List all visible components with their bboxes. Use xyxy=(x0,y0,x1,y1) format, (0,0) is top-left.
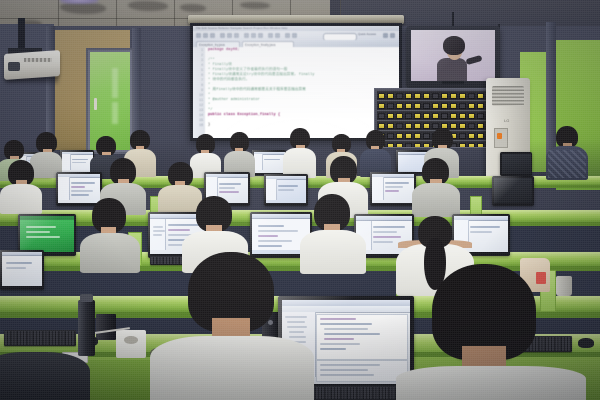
toolbar-icon-run[interactable] xyxy=(227,33,232,38)
code-line: * 用finally块中的代码通常都是无关于程序是否抛出异常 xyxy=(208,88,306,93)
toolbar-icon-back[interactable] xyxy=(268,33,273,38)
laptop xyxy=(56,172,102,206)
toolbar-icon-forward[interactable] xyxy=(275,33,280,38)
ac-air-vent xyxy=(492,86,524,106)
code-line: * 块中的代码都会执行。 xyxy=(208,78,249,83)
toolbar-icon-save[interactable] xyxy=(203,33,208,38)
pc-tower xyxy=(96,314,116,340)
tissue-roll-core xyxy=(124,336,138,344)
laptop xyxy=(370,172,416,206)
tissue-roll xyxy=(116,330,146,358)
pc-tower-power-icon[interactable] xyxy=(268,320,273,325)
rack-row xyxy=(377,91,489,101)
toolbar-icon-new[interactable] xyxy=(196,33,201,38)
toolbar-icon-perspective-java[interactable] xyxy=(383,33,388,38)
toolbar-icon-print[interactable] xyxy=(210,33,215,38)
shirt-pattern xyxy=(548,150,586,178)
toolbar-icon-next[interactable] xyxy=(251,33,256,38)
code-line: * @author administrator xyxy=(208,98,260,103)
tv-power-cable xyxy=(452,12,454,27)
water-bottle xyxy=(78,300,95,356)
ide-code-editor[interactable]: package day08; /** * finally块 * finally块… xyxy=(205,47,399,138)
code-line: public class Exception_finally { xyxy=(208,113,280,118)
door-handle[interactable] xyxy=(94,98,97,110)
door-glass-highlight xyxy=(112,68,118,98)
projector-vent xyxy=(24,58,52,62)
laptop xyxy=(264,174,308,206)
cup xyxy=(556,276,572,296)
ceiling-light xyxy=(60,0,98,4)
quick-access-label: Quick Access xyxy=(358,32,376,37)
monitor xyxy=(252,150,286,175)
toolbar-icon-debug[interactable] xyxy=(220,33,225,38)
toolbar-icon-prev[interactable] xyxy=(258,33,263,38)
toolbar-icon-build[interactable] xyxy=(234,33,239,38)
toolbar-icon-search[interactable] xyxy=(244,33,249,38)
snack-bag-label xyxy=(536,272,546,284)
projector-lens xyxy=(8,62,20,71)
gutter-line-number: 16 xyxy=(199,123,203,128)
toolbar-icon-misc1[interactable] xyxy=(285,33,290,38)
mouse[interactable] xyxy=(578,338,594,348)
rack-row xyxy=(377,111,489,121)
rack-row xyxy=(377,121,489,131)
toolbar-icon-misc2[interactable] xyxy=(292,33,297,38)
toolbar-icon-perspective-debug[interactable] xyxy=(390,33,395,38)
water-bottle-cap xyxy=(80,294,93,302)
door-glass-highlight-2 xyxy=(112,102,118,124)
monitor xyxy=(492,176,534,206)
ac-power-indicator-icon xyxy=(497,133,502,139)
projector-mount xyxy=(18,18,25,52)
keyboard[interactable] xyxy=(4,330,76,346)
tv-stand xyxy=(442,81,464,84)
monitor xyxy=(0,250,44,290)
projection-screen-surface: File Edit Source Refactor Navigate Searc… xyxy=(193,26,399,138)
classroom-photo: File Edit Source Refactor Navigate Searc… xyxy=(0,0,600,400)
code-line: } xyxy=(208,123,210,128)
rack-row xyxy=(377,101,489,111)
tv-screen-glare xyxy=(411,30,495,81)
code-line: package day08; xyxy=(208,48,240,53)
monitor xyxy=(500,152,532,176)
ac-brand-label: LG xyxy=(504,118,509,123)
